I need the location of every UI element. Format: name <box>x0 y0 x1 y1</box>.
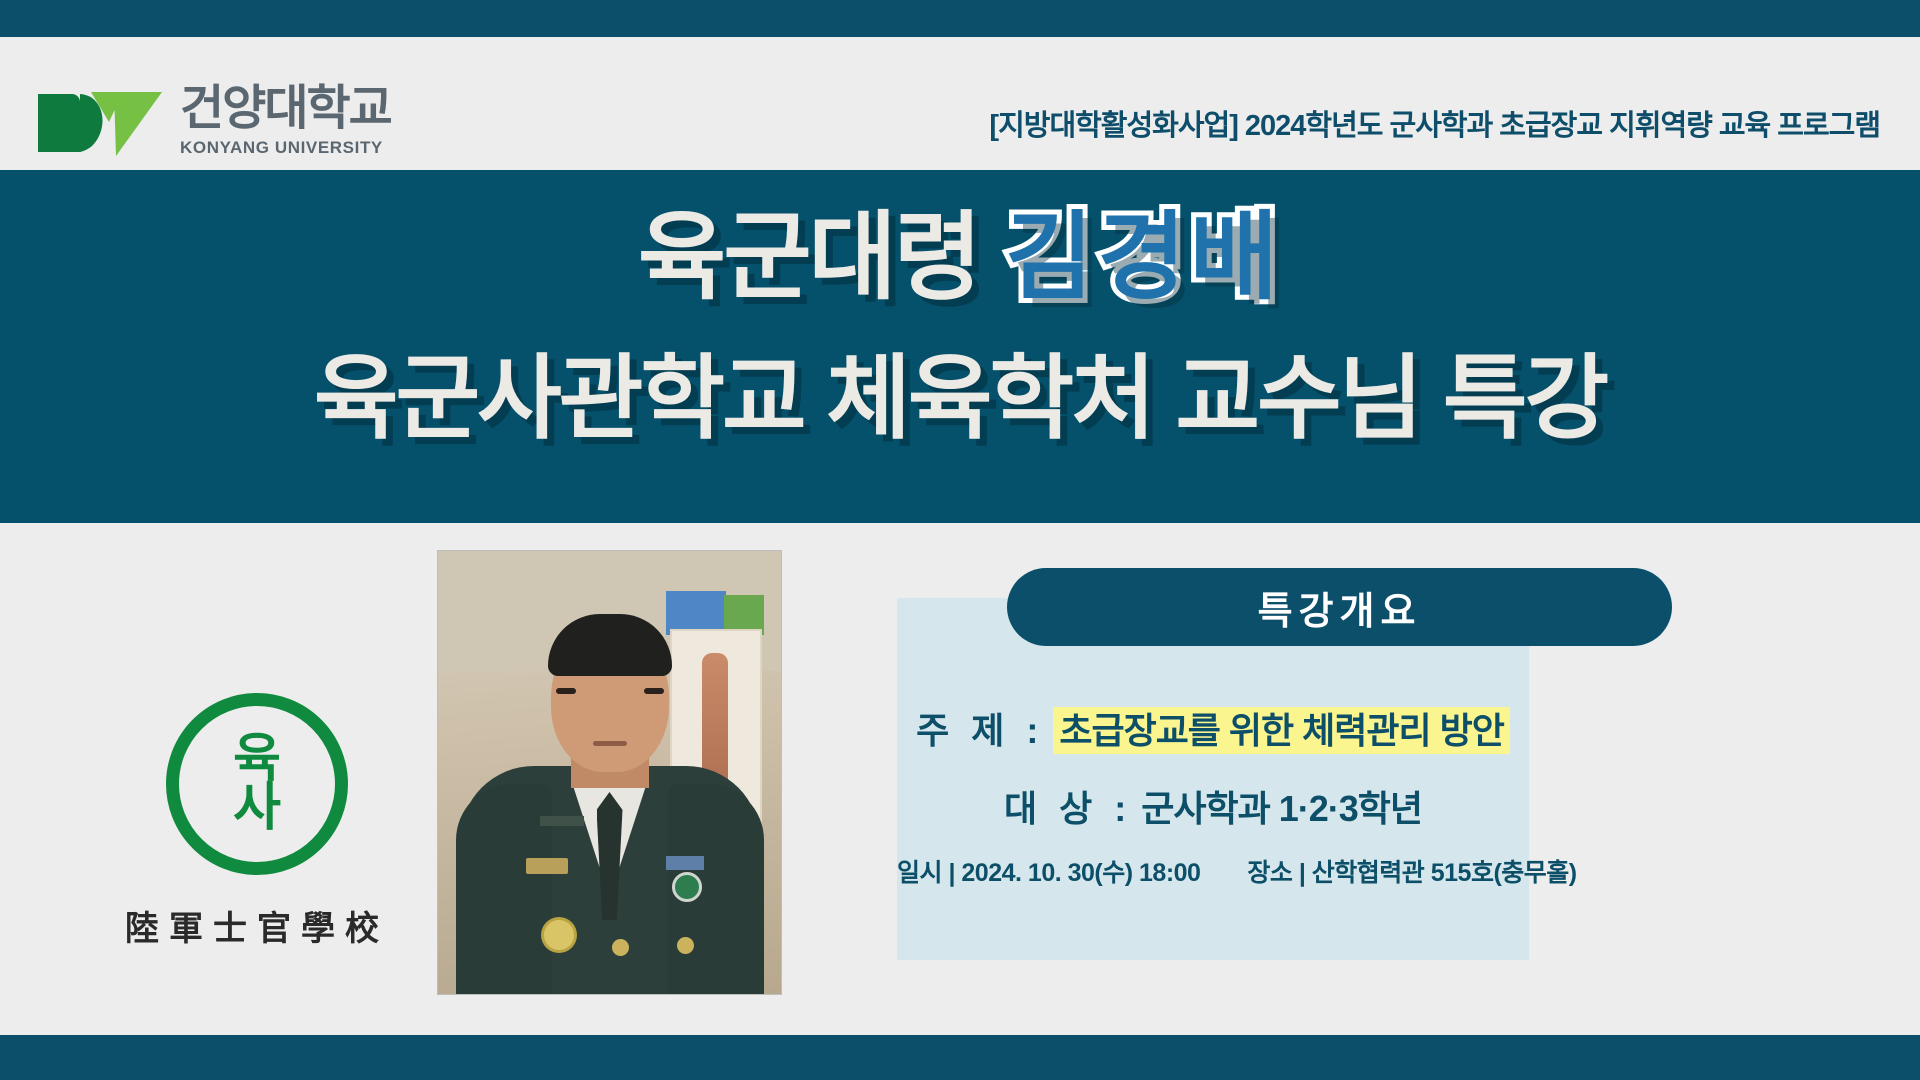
speaker-name: 김경배 <box>1005 204 1282 311</box>
photo-name-tag <box>526 858 568 874</box>
photo-ribbon-bar <box>666 856 704 870</box>
top-accent-bar <box>0 0 1920 37</box>
photo-unit-patch <box>672 872 702 902</box>
logo-korean-name: 건양대학교 <box>180 85 391 133</box>
speaker-photo <box>437 550 782 995</box>
bottom-accent-bar <box>0 1035 1920 1080</box>
info-row-subject: 주 제 : 초급장교를 위한 체력관리 방안 <box>897 713 1529 749</box>
photo-eye-right <box>644 688 664 694</box>
date-value: 2024. 10. 30(수) 18:00 <box>961 859 1200 887</box>
photo-medal <box>544 920 574 950</box>
emblem-circle-icon: 육 사 <box>166 693 348 875</box>
place-label: 장소 | <box>1247 859 1305 887</box>
place-value: 산학협력관 515호(충무홀) <box>1312 859 1577 887</box>
emblem-caption: 陸軍士官學校 <box>92 901 422 950</box>
photo-shoulder-left <box>456 784 552 994</box>
photo-rank-insignia <box>540 816 584 826</box>
army-academy-emblem: 육 사 陸軍士官學校 <box>92 693 422 950</box>
subject-label: 주 제 : <box>916 710 1044 751</box>
photo-person <box>460 664 760 994</box>
photo-eye-left <box>556 688 576 694</box>
ky-mark-icon <box>36 86 166 158</box>
subject-value: 초급장교를 위한 체력관리 방안 <box>1053 707 1510 754</box>
audience-value: 군사학과 1·2·3학년 <box>1141 788 1422 829</box>
logo-text-block: 건양대학교 KONYANG UNIVERSITY <box>180 85 391 158</box>
speaker-rank: 육군대령 <box>638 204 979 311</box>
photo-button-2 <box>677 937 694 954</box>
poster-body: 육 사 陸軍士官學校 <box>0 523 1920 1035</box>
hero-line-1: 육군대령김경배 <box>0 198 1920 318</box>
program-title: [지방대학활성화사업] 2024학년도 군사학과 초급장교 지휘역량 교육 프로… <box>989 102 1880 144</box>
logo-english-name: KONYANG UNIVERSITY <box>180 139 391 156</box>
poster-root: 건양대학교 KONYANG UNIVERSITY [지방대학활성화사업] 202… <box>0 0 1920 1080</box>
emblem-char-top: 육 <box>233 735 281 784</box>
lecture-footer: 일시 | 2024. 10. 30(수) 18:00 장소 | 산학협력관 51… <box>897 853 1529 889</box>
date-label: 일시 | <box>897 859 955 887</box>
hero-band: 육군대령김경배 육군사관학교 체육학처 교수님 특강 <box>0 170 1920 523</box>
lecture-info-rows: 주 제 : 초급장교를 위한 체력관리 방안 대 상 : 군사학과 1·2·3학… <box>897 713 1529 827</box>
photo-button-1 <box>612 939 629 956</box>
poster-header: 건양대학교 KONYANG UNIVERSITY [지방대학활성화사업] 202… <box>0 37 1920 170</box>
hero-line-2: 육군사관학교 체육학처 교수님 특강 <box>0 342 1920 457</box>
info-row-audience: 대 상 : 군사학과 1·2·3학년 <box>897 791 1529 827</box>
photo-mouth <box>593 741 627 746</box>
audience-label: 대 상 : <box>1004 788 1132 829</box>
university-logo: 건양대학교 KONYANG UNIVERSITY <box>36 85 391 158</box>
emblem-char-bottom: 사 <box>233 784 281 833</box>
lecture-overview-pill: 특강개요 <box>1007 568 1672 646</box>
